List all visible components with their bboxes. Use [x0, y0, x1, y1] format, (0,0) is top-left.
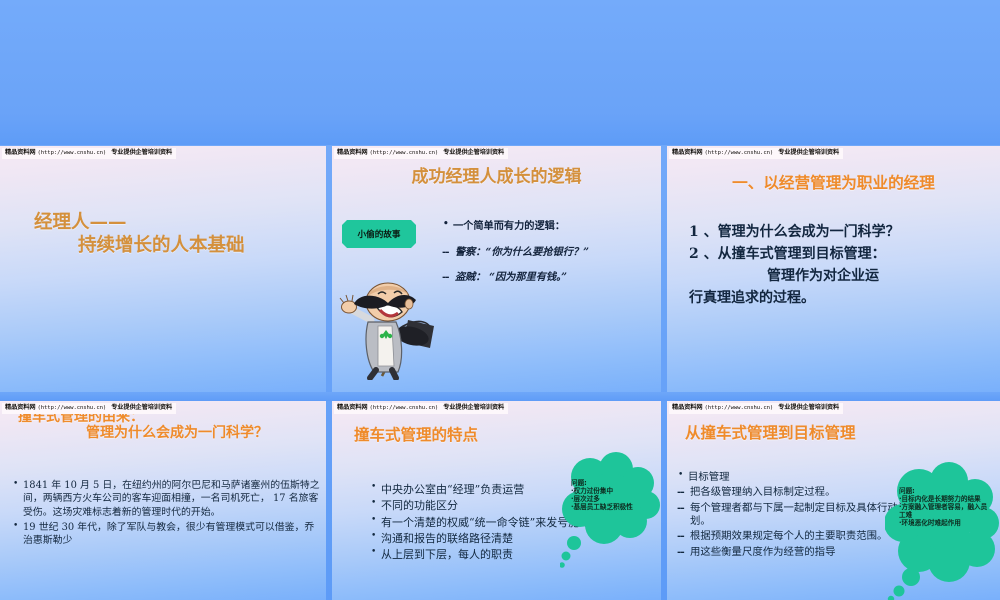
watermark-site: 精品资料网 [5, 404, 35, 411]
watermark-tagline: 专业提供企管培训资料 [443, 149, 504, 156]
slide-6-bullet-1: 目标管理 [677, 471, 909, 484]
slide-2-story-badge: 小偷的故事 [342, 220, 416, 248]
slide-4[interactable]: 精品资料网 (http://www.cnshu.cn) 专业提供企管培训资料 撞… [0, 401, 326, 600]
cartoon-thief-icon [338, 276, 446, 380]
watermark-4: 精品资料网 (http://www.cnshu.cn) 专业提供企管培训资料 [2, 403, 176, 414]
watermark-tagline: 专业提供企管培训资料 [111, 404, 172, 411]
slide-3-line-4: 行真理追求的过程。 [689, 290, 989, 308]
watermark-url: (http://www.cnshu.cn) [38, 150, 107, 156]
slide-1-title-line2: 持续增长的人本基础 [78, 235, 245, 256]
slide-2-lead-list: 一个简单而有力的逻辑： [442, 220, 652, 233]
slide-1-title-line1: 经理人—— [34, 212, 127, 233]
watermark-1: 精品资料网 (http://www.cnshu.cn) 专业提供企管培训资料 [2, 148, 176, 159]
slide-3[interactable]: 精品资料网 (http://www.cnshu.cn) 专业提供企管培训资料 一… [667, 146, 1000, 392]
slide-3-line-1: 1 、管理为什么会成为一门科学？ [689, 224, 989, 242]
slide-5[interactable]: 精品资料网 (http://www.cnshu.cn) 专业提供企管培训资料 撞… [332, 401, 661, 600]
slide-4-body: 1841 年 10 月 5 日，在纽约州的阿尔巴尼和马萨诸塞州的伍斯特之间，两辆… [12, 479, 324, 549]
slide-4-bullet-list: 1841 年 10 月 5 日，在纽约州的阿尔巴尼和马萨诸塞州的伍斯特之间，两辆… [12, 479, 324, 547]
slide-6-bullet-list: 目标管理 [677, 471, 909, 484]
slide-5-thought-cloud-icon [560, 451, 661, 569]
watermark-5: 精品资料网 (http://www.cnshu.cn) 专业提供企管培训资料 [334, 403, 508, 414]
top-blue-band [0, 0, 1000, 145]
slide-2-lead: 一个简单而有力的逻辑： [442, 220, 652, 233]
watermark-tagline: 专业提供企管培训资料 [443, 404, 504, 411]
watermark-2: 精品资料网 (http://www.cnshu.cn) 专业提供企管培训资料 [334, 148, 508, 159]
watermark-6: 精品资料网 (http://www.cnshu.cn) 专业提供企管培训资料 [669, 403, 843, 414]
slide-6-dash-1: 把各级管理纳入目标制定过程。 [677, 486, 909, 499]
slide-2-body: 一个简单而有力的逻辑： 警察：“你为什么要抢银行？” 盗贼： “因为那里有钱。” [442, 220, 652, 296]
slide-5-title: 撞车式管理的特点 [354, 427, 478, 445]
slide-3-line-3: 管理作为对企业运 [767, 268, 989, 286]
watermark-3: 精品资料网 (http://www.cnshu.cn) 专业提供企管培训资料 [669, 148, 843, 159]
watermark-site: 精品资料网 [672, 149, 702, 156]
watermark-tagline: 专业提供企管培训资料 [778, 149, 839, 156]
slide-3-body: 1 、管理为什么会成为一门科学？ 2 、从撞车式管理到目标管理： 管理作为对企业… [689, 224, 989, 312]
slide-grid: 精品资料网 (http://www.cnshu.cn) 专业提供企管培训资料 经… [0, 146, 1000, 600]
slide-4-bullet-2: 19 世纪 30 年代，除了军队与教会，很少有管理模式可以借鉴，乔治惠斯勒少 [12, 521, 324, 548]
slide-2[interactable]: 精品资料网 (http://www.cnshu.cn) 专业提供企管培训资料 成… [332, 146, 661, 392]
watermark-site: 精品资料网 [5, 149, 35, 156]
slide-6-thought-cloud-icon [885, 461, 1000, 600]
slide-1[interactable]: 精品资料网 (http://www.cnshu.cn) 专业提供企管培训资料 经… [0, 146, 326, 392]
watermark-url: (http://www.cnshu.cn) [705, 405, 774, 411]
slide-4-bullet-1: 1841 年 10 月 5 日，在纽约州的阿尔巴尼和马萨诸塞州的伍斯特之间，两辆… [12, 479, 324, 519]
slide-6-body: 目标管理 把各级管理纳入目标制定过程。 每个管理者都与下属一起制定目标及具体行动… [677, 471, 909, 561]
watermark-site: 精品资料网 [337, 149, 367, 156]
watermark-tagline: 专业提供企管培训资料 [111, 149, 172, 156]
slide-2-quote-thief: 盗贼： “因为那里有钱。” [442, 271, 652, 284]
watermark-site: 精品资料网 [337, 404, 367, 411]
watermark-url: (http://www.cnshu.cn) [38, 405, 107, 411]
watermark-site: 精品资料网 [672, 404, 702, 411]
slide-3-line-2: 2 、从撞车式管理到目标管理： [689, 246, 989, 264]
slide-6[interactable]: 精品资料网 (http://www.cnshu.cn) 专业提供企管培训资料 从… [667, 401, 1000, 600]
watermark-url: (http://www.cnshu.cn) [370, 405, 439, 411]
slide-thumbnail-page: 精品资料网 (http://www.cnshu.cn) 专业提供企管培训资料 经… [0, 0, 1000, 600]
slide-1-title: 经理人—— 持续增长的人本基础 [34, 212, 245, 257]
slide-2-quote-police: 警察：“你为什么要抢银行？” [442, 246, 652, 259]
watermark-url: (http://www.cnshu.cn) [370, 150, 439, 156]
watermark-url: (http://www.cnshu.cn) [705, 150, 774, 156]
slide-3-title: 一、以经营管理为职业的经理 [667, 174, 1000, 192]
slide-6-title: 从撞车式管理到目标管理 [685, 425, 985, 443]
slide-6-dash-4: 用这些衡量尺度作为经营的指导 [677, 546, 909, 559]
slide-6-dash-3: 根据预期效果规定每个人的主要职责范围。 [677, 530, 909, 543]
slide-4-title-line2: 管理为什么会成为一门科学？ [86, 425, 326, 441]
watermark-tagline: 专业提供企管培训资料 [778, 404, 839, 411]
slide-2-title: 成功经理人成长的逻辑 [332, 168, 661, 188]
slide-6-dash-2: 每个管理者都与下属一起制定目标及具体行动计划。 [677, 502, 909, 529]
